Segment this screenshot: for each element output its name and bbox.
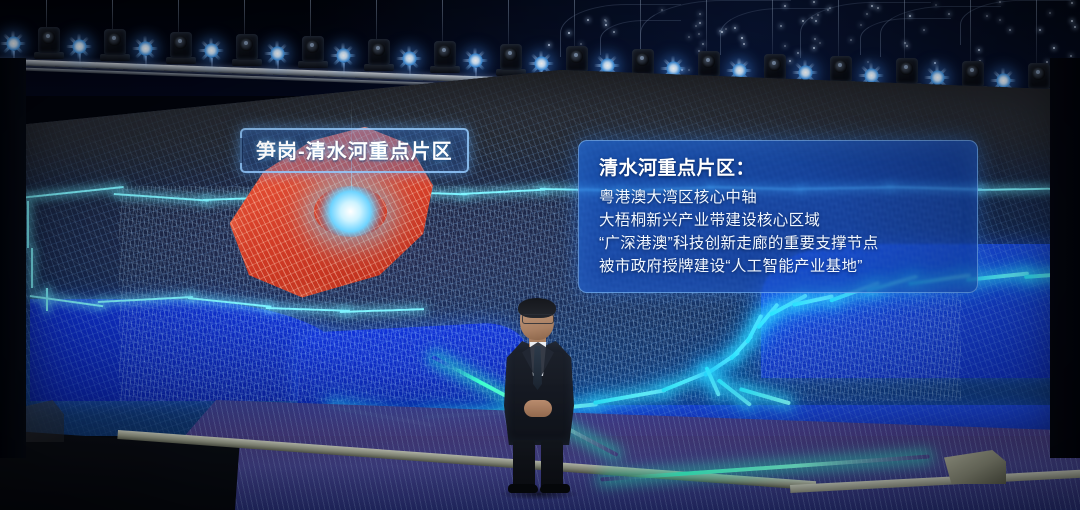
twinkle-light	[986, 15, 988, 17]
map-zone-label: 笋岗-清水河重点片区	[240, 128, 469, 173]
map-zone-label-text: 笋岗-清水河重点片区	[256, 141, 453, 163]
twinkle-light	[1053, 47, 1055, 49]
twinkle-light	[699, 22, 701, 24]
presenter-shoe-left	[508, 484, 538, 493]
twinkle-light	[871, 5, 873, 7]
twinkle-light	[877, 7, 879, 9]
twinkle-light	[661, 9, 663, 11]
branch-decor	[960, 0, 1071, 45]
twinkle-light	[813, 1, 815, 3]
twinkle-light	[797, 52, 799, 54]
presenter	[486, 300, 590, 492]
twinkle-light	[1071, 20, 1073, 22]
par-starburst-light	[134, 38, 156, 60]
twinkle-light	[605, 24, 607, 26]
twinkle-light	[935, 4, 937, 6]
twinkle-light	[784, 45, 786, 47]
highlighted-zone-core-glow	[314, 186, 388, 237]
info-panel-line: 粤港澳大湾区核心中轴	[599, 186, 959, 209]
twinkle-light	[548, 44, 550, 46]
twinkle-light	[815, 20, 817, 22]
boundary-segment-vertical	[27, 201, 29, 248]
info-panel-title: 清水河重点片区：	[599, 153, 959, 180]
moving-head-light	[170, 32, 192, 58]
par-starburst-light	[2, 33, 24, 55]
twinkle-light	[721, 31, 723, 33]
twinkle-light	[604, 19, 606, 21]
stage-right-wing	[1050, 58, 1080, 458]
info-panel-line: 大梧桐新兴产业带建设核心区域	[599, 209, 959, 232]
stage-left-wing	[0, 58, 26, 458]
twinkle-light	[819, 42, 821, 44]
moving-head-light	[104, 29, 126, 55]
par-starburst-light	[68, 35, 90, 57]
presenter-shoe-right	[540, 484, 570, 493]
glasses-icon	[522, 314, 554, 324]
twinkle-light	[1070, 55, 1072, 57]
boundary-segment-vertical	[31, 248, 33, 287]
info-panel-line: 被市政府授牌建设“人工智能产业基地”	[599, 255, 959, 278]
twinkle-light	[866, 13, 868, 15]
branch-decor	[860, 18, 951, 55]
twinkle-light	[817, 14, 819, 16]
twinkle-light	[780, 25, 782, 27]
moving-head-light	[38, 27, 60, 53]
moving-head-light	[236, 34, 258, 60]
twinkle-light	[741, 37, 743, 39]
presenter-leg-left	[513, 440, 535, 488]
presenter-hands	[524, 400, 552, 417]
presenter-leg-right	[541, 440, 563, 488]
twinkle-light	[978, 49, 980, 51]
stage-screenshot: 笋岗-清水河重点片区 清水河重点片区： 粤港澳大湾区核心中轴 大梧桐新兴产业带建…	[0, 0, 1080, 510]
info-panel-line: “广深港澳”科技创新走廊的重要支撑节点	[599, 232, 959, 255]
info-panel: 清水河重点片区： 粤港澳大湾区核心中轴 大梧桐新兴产业带建设核心区域 “广深港澳…	[578, 140, 978, 293]
twinkle-light	[784, 5, 786, 7]
twinkle-light	[948, 13, 950, 15]
presenter-tie	[533, 346, 542, 390]
twinkle-light	[734, 27, 736, 29]
twinkle-light	[580, 43, 582, 45]
twinkle-light	[1009, 29, 1011, 31]
twinkle-light	[587, 19, 589, 21]
twinkle-light	[1074, 26, 1076, 28]
